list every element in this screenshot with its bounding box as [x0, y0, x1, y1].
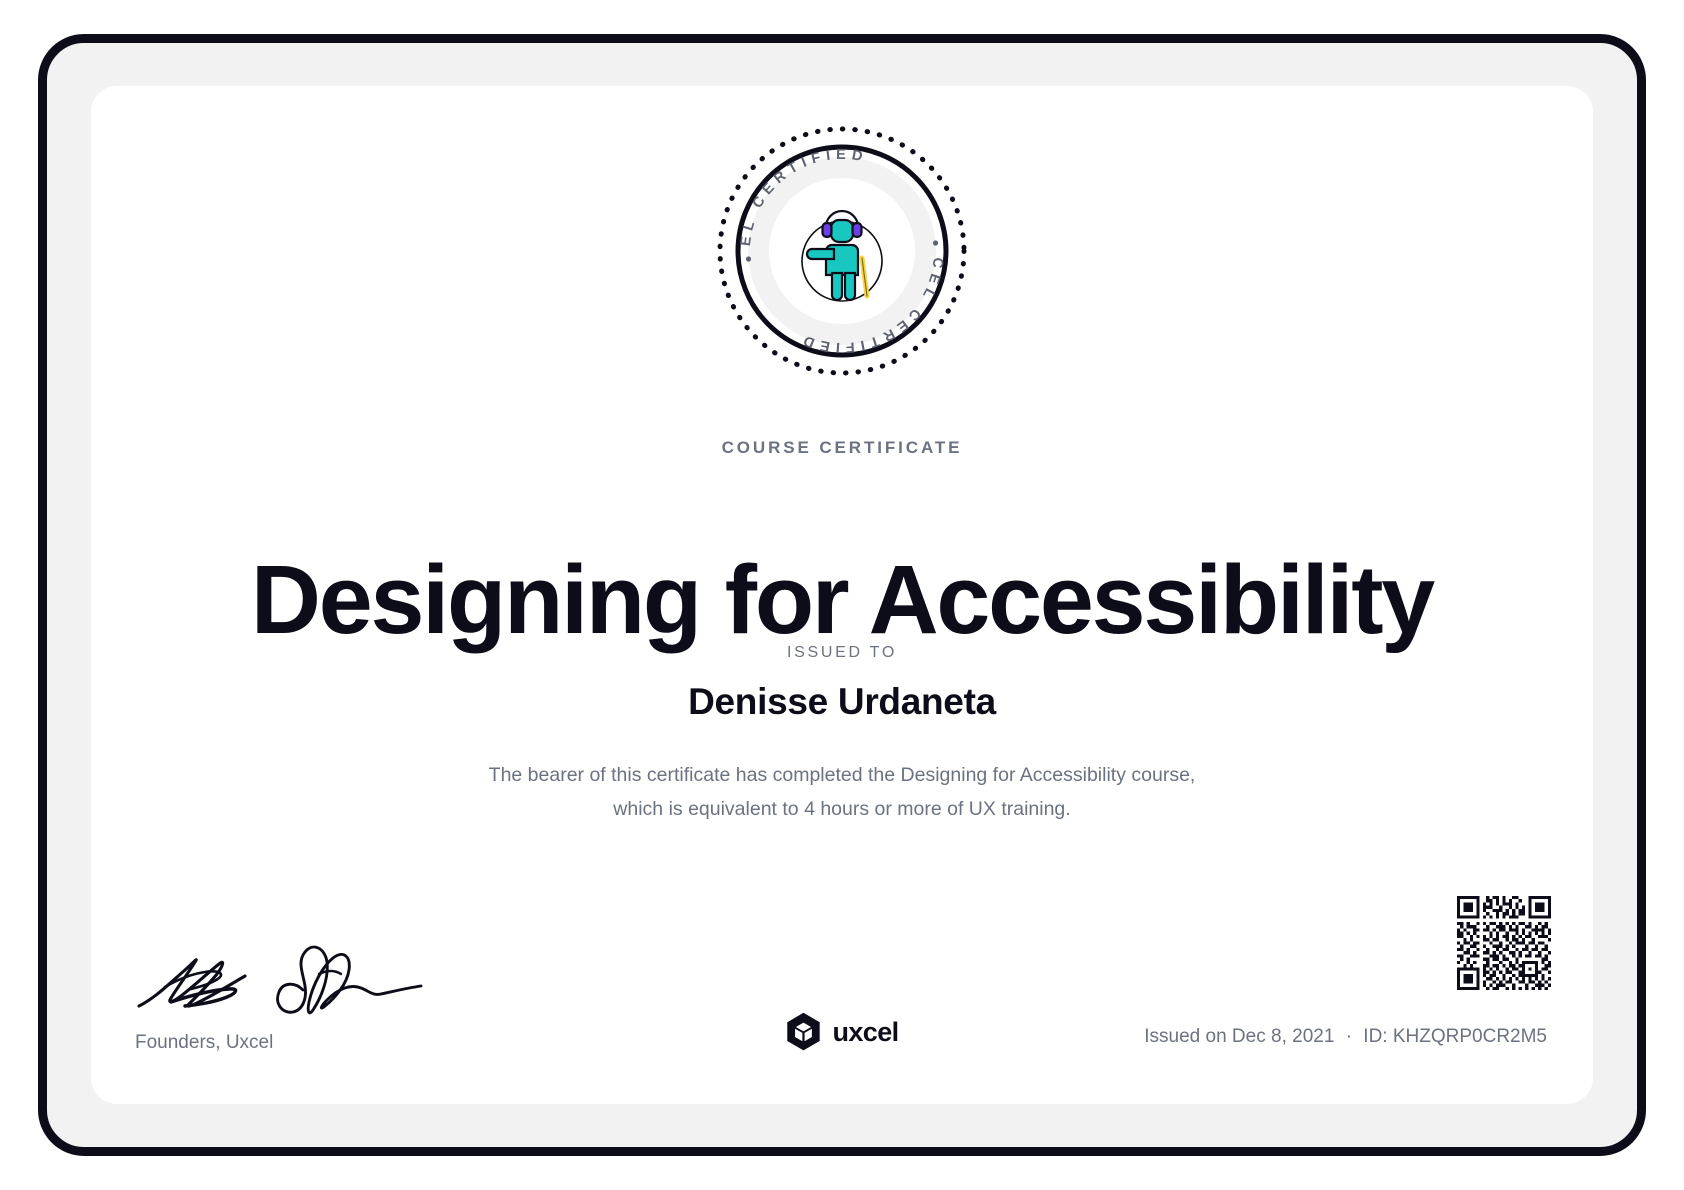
issue-date: Issued on Dec 8, 2021	[1144, 1026, 1334, 1047]
uxcel-cube-icon	[785, 1012, 821, 1052]
certificate-kicker: COURSE CERTIFICATE	[91, 438, 1593, 458]
seal-icon: UXCEL CERTIFIED UXCEL CERTIFIED	[712, 121, 972, 381]
issued-to-label: ISSUED TO	[91, 644, 1593, 662]
description-line-1: The bearer of this certificate has compl…	[489, 764, 1126, 786]
certificate-id: ID: KHZQRP0CR2M5	[1363, 1026, 1547, 1047]
founders-signature-icon	[133, 940, 433, 1022]
issue-meta: Issued on Dec 8, 2021 · ID: KHZQRP0CR2M5	[1144, 1026, 1547, 1048]
course-title: Designing for Accessibility	[91, 549, 1593, 652]
qr-code-icon[interactable]	[1457, 896, 1551, 990]
certificate-description: The bearer of this certificate has compl…	[472, 759, 1212, 826]
certification-seal: UXCEL CERTIFIED UXCEL CERTIFIED	[712, 121, 972, 381]
certificate-card: UXCEL CERTIFIED UXCEL CERTIFIED	[91, 86, 1593, 1104]
verification-qr-code[interactable]	[1457, 896, 1551, 990]
signature-block: Founders, Uxcel	[133, 940, 463, 1054]
uxcel-logo: uxcel	[785, 1012, 898, 1052]
certificate-frame: UXCEL CERTIFIED UXCEL CERTIFIED	[38, 34, 1646, 1156]
uxcel-wordmark: uxcel	[832, 1017, 898, 1048]
signature-caption: Founders, Uxcel	[133, 1032, 463, 1054]
meta-separator: ·	[1340, 1026, 1358, 1047]
recipient-name: Denisse Urdaneta	[91, 681, 1593, 723]
